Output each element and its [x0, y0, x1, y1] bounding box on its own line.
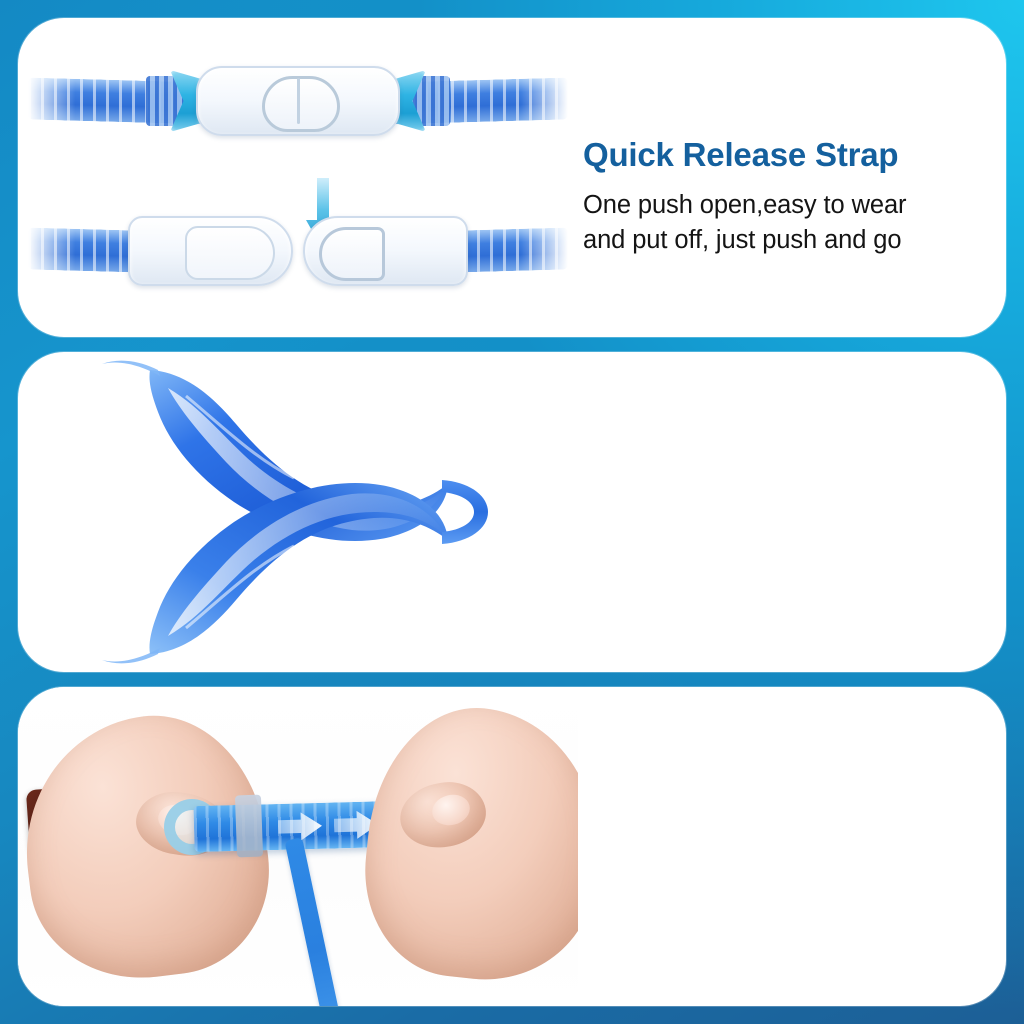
nose-piece-illustration: [18, 352, 578, 672]
open-buckle-row: [18, 208, 578, 292]
buckle-illustration: [18, 18, 578, 337]
nose-bridge: [442, 480, 488, 544]
feature-title: Quick Release Strap: [583, 136, 1003, 174]
feature-description-line: One push open,easy to wear: [583, 188, 1003, 223]
buckle-half-left: [128, 216, 293, 286]
feature-copy-quick-release-strap: Quick Release Strap One push open,easy t…: [583, 136, 1003, 257]
goggle-eye-cup-lower: [102, 483, 448, 663]
right-arrow-icon: [278, 812, 323, 841]
buckle-closed: [196, 66, 400, 136]
hands-adjusting-strap-photo: [18, 687, 578, 1006]
buckle-half-right: [303, 216, 468, 286]
feature-card-easy-adjustment: Easy Adjustment Just pull to tighten and…: [18, 687, 1006, 1006]
feature-card-quick-release-strap: Quick Release Strap One push open,easy t…: [18, 18, 1006, 337]
feature-card-3d-ergonomic-design: 3D Ergonomic Design Perfectly fit with e…: [18, 352, 1006, 672]
closed-buckle-row: [18, 58, 578, 142]
strap-keeper-loop: [235, 795, 263, 858]
product-feature-poster: Quick Release Strap One push open,easy t…: [0, 0, 1024, 1024]
feature-description-line: and put off, just push and go: [583, 223, 1003, 258]
